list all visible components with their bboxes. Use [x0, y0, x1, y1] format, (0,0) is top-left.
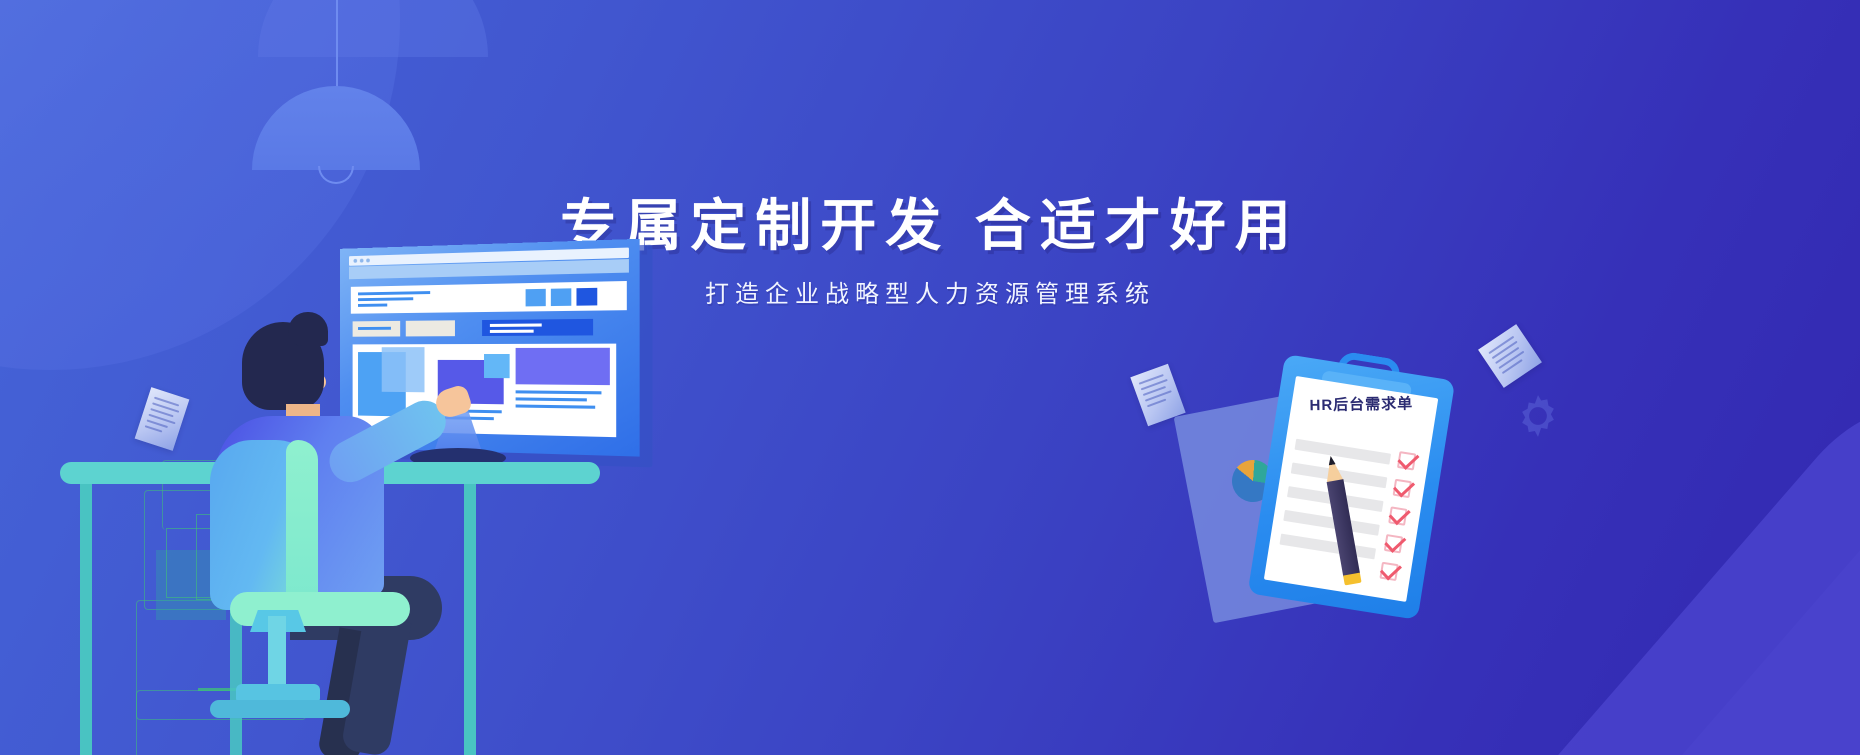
office-chair-post [268, 616, 286, 690]
hr-requirements-clipboard-illustration: HR后台需求单 [1180, 320, 1520, 620]
lamp-cord [336, 0, 338, 93]
mock-card [351, 281, 627, 314]
page-title: 专属定制开发 合适才好用 [560, 196, 1300, 256]
person-hair-bun [288, 312, 328, 346]
mock-chip [353, 321, 401, 337]
checkbox-checked[interactable] [1397, 451, 1416, 470]
hero-text-block: 专属定制开发 合适才好用 打造企业战略型人力资源管理系统 [0, 196, 1860, 309]
clipboard-title: HR后台需求单 [1309, 392, 1413, 415]
pendant-lamp [252, 0, 420, 180]
person-at-desk-illustration [60, 300, 630, 755]
checklist-line [1280, 534, 1377, 560]
checklist-line [1295, 439, 1392, 465]
lamp-shade [252, 86, 420, 170]
office-chair-wheels [210, 700, 350, 718]
mock-swatch [526, 289, 546, 307]
mock-chip [482, 319, 593, 336]
checkbox-checked[interactable] [1379, 562, 1398, 581]
desk-leg [464, 480, 476, 755]
checkbox-checked[interactable] [1384, 534, 1403, 553]
mock-swatch [576, 288, 597, 306]
desk-leg [80, 480, 92, 755]
hero-banner: 专属定制开发 合适才好用 打造企业战略型人力资源管理系统 [0, 0, 1860, 755]
clipboard: HR后台需求单 [1248, 346, 1457, 620]
gear-icon [1514, 392, 1562, 440]
checkbox-checked[interactable] [1393, 479, 1412, 498]
mock-chip [406, 320, 455, 336]
mock-swatch [551, 288, 571, 306]
pencil-lead [1327, 455, 1335, 465]
checkbox-checked[interactable] [1388, 506, 1407, 525]
pencil-ferrule [1343, 573, 1361, 586]
